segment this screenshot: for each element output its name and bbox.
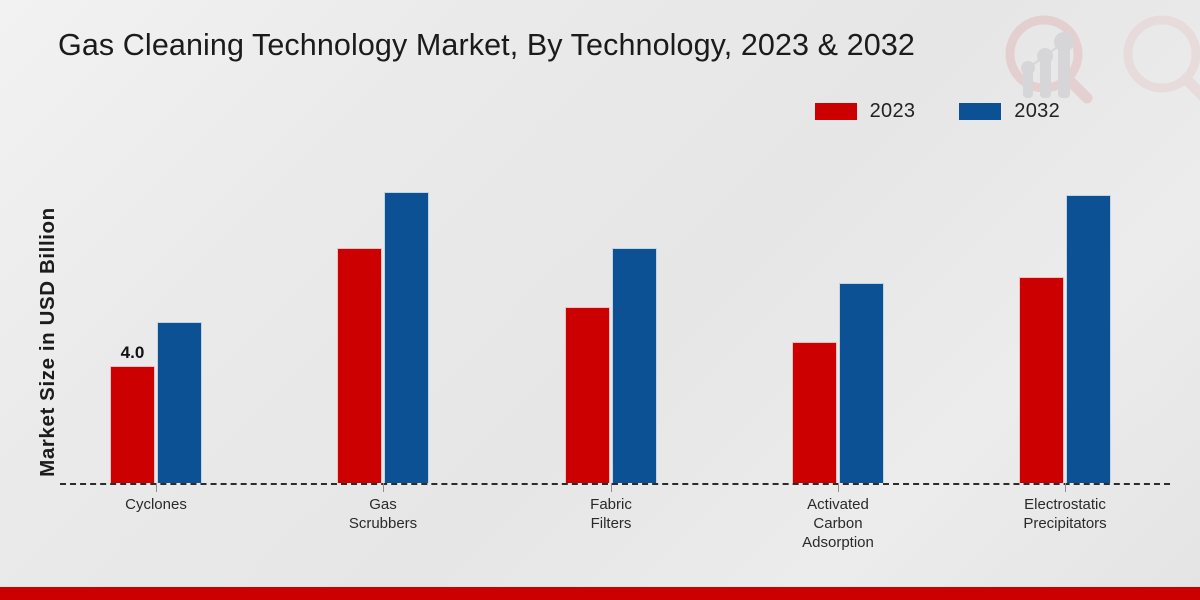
x-axis-category-label: Cyclones bbox=[61, 495, 251, 514]
x-axis-category-label: Electrostatic Precipitators bbox=[970, 495, 1160, 533]
bar-2032[interactable] bbox=[157, 322, 202, 484]
x-axis-tick bbox=[1065, 483, 1066, 492]
bar-2023[interactable] bbox=[1019, 277, 1064, 483]
chart-title: Gas Cleaning Technology Market, By Techn… bbox=[58, 28, 1038, 63]
x-axis-tick bbox=[838, 483, 839, 492]
x-axis-baseline bbox=[60, 483, 1170, 485]
legend-swatch-2023 bbox=[815, 103, 857, 120]
x-axis-category-label: Gas Scrubbers bbox=[288, 495, 478, 533]
bar-2023[interactable]: 4.0 bbox=[110, 366, 155, 483]
legend-label-2023: 2023 bbox=[870, 100, 916, 123]
bar-value-label: 4.0 bbox=[121, 343, 145, 363]
x-axis-tick bbox=[383, 483, 384, 492]
chart-page: Gas Cleaning Technology Market, By Techn… bbox=[0, 0, 1200, 600]
magnifier-logo-watermark-secondary-icon bbox=[1108, 6, 1200, 110]
plot-area: 4.0CyclonesGas ScrubbersFabric FiltersAc… bbox=[60, 160, 1170, 483]
chart-legend: 2023 2032 bbox=[815, 100, 1060, 123]
x-axis-tick bbox=[611, 483, 612, 492]
legend-item-2032[interactable]: 2032 bbox=[959, 100, 1060, 123]
bar-2023[interactable] bbox=[337, 248, 382, 483]
bar-2023[interactable] bbox=[565, 307, 610, 483]
legend-swatch-2032 bbox=[959, 103, 1001, 120]
bar-pair bbox=[1019, 160, 1111, 483]
legend-item-2023[interactable]: 2023 bbox=[815, 100, 916, 123]
bar-pair bbox=[565, 160, 657, 483]
bar-2032[interactable] bbox=[839, 283, 884, 483]
x-axis-category-label: Fabric Filters bbox=[516, 495, 706, 533]
bar-2032[interactable] bbox=[1066, 195, 1111, 483]
bar-pair: 4.0 bbox=[110, 160, 202, 483]
bar-pair bbox=[792, 160, 884, 483]
bar-2032[interactable] bbox=[384, 192, 429, 483]
bar-pair bbox=[337, 160, 429, 483]
y-axis-title: Market Size in USD Billion bbox=[36, 152, 60, 532]
x-axis-category-label: Activated Carbon Adsorption bbox=[743, 495, 933, 552]
footer-accent-bar bbox=[0, 587, 1200, 600]
x-axis-tick bbox=[156, 483, 157, 492]
bar-2032[interactable] bbox=[612, 248, 657, 483]
bar-2023[interactable] bbox=[792, 342, 837, 483]
legend-label-2032: 2032 bbox=[1014, 100, 1060, 123]
